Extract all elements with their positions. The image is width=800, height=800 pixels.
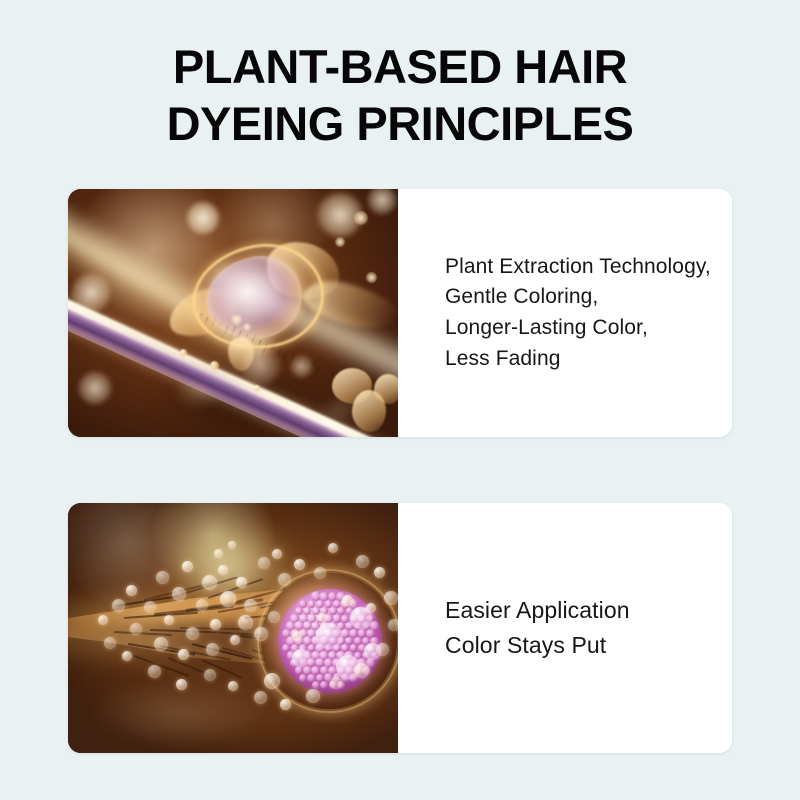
serum-blob-secondary xyxy=(326,364,398,436)
bubble-icon xyxy=(164,615,174,625)
bubble-icon xyxy=(98,615,108,625)
bubble-icon xyxy=(272,549,282,559)
bubble-icon xyxy=(202,575,217,590)
bubble-icon xyxy=(126,585,137,596)
card-1-text: Plant Extraction Technology, Gentle Colo… xyxy=(445,252,711,375)
bubble-icon xyxy=(148,665,161,678)
bubble-icon xyxy=(318,613,327,622)
bubble-icon xyxy=(178,649,189,660)
hair-cross-section-illustration xyxy=(68,503,398,753)
bubble-icon xyxy=(206,643,219,656)
bubble-icon xyxy=(278,573,291,586)
bubble-icon xyxy=(112,599,125,612)
pigment-droplet-icon xyxy=(292,649,310,667)
card-1-body: Plant Extraction Technology, Gentle Colo… xyxy=(398,189,732,437)
bubble-icon xyxy=(354,663,369,678)
feature-card-1: Plant Extraction Technology, Gentle Colo… xyxy=(68,189,732,437)
bubble-icon xyxy=(280,699,291,710)
serum-lobe xyxy=(374,374,398,404)
bubble-icon xyxy=(228,541,236,549)
bubble-icon xyxy=(182,561,193,572)
bubble-icon xyxy=(230,635,240,645)
bubble-icon xyxy=(374,567,385,578)
bubble-icon xyxy=(236,577,247,588)
bubble-icon xyxy=(366,603,376,613)
bubble-icon xyxy=(214,549,223,558)
bubble-icon xyxy=(314,567,326,579)
serum-droplet-icon xyxy=(210,361,219,370)
bubble-icon xyxy=(130,623,142,635)
serum-droplet-icon xyxy=(254,385,260,391)
bubble-icon xyxy=(328,543,338,553)
bubble-icon xyxy=(258,557,270,569)
bubble-icon xyxy=(218,565,228,575)
bubble-icon xyxy=(144,601,156,613)
card-2-body: Easier Application Color Stays Put xyxy=(398,503,732,753)
bubble-icon xyxy=(238,615,253,630)
card-2-text: Easier Application Color Stays Put xyxy=(445,593,630,663)
bubble-icon xyxy=(376,643,389,656)
bubble-icon xyxy=(342,595,353,606)
bubble-icon xyxy=(388,619,398,631)
bubble-icon xyxy=(196,599,208,611)
bubble-icon xyxy=(306,689,320,703)
feature-card-2: Easier Application Color Stays Put xyxy=(68,503,732,753)
serum-droplet-icon xyxy=(180,349,187,356)
bubble-icon xyxy=(172,587,186,601)
serum-blob xyxy=(182,239,332,357)
bubble-icon xyxy=(154,637,168,651)
bubble-icon xyxy=(122,651,132,661)
bubble-icon xyxy=(356,555,369,568)
bubble-icon xyxy=(330,677,342,689)
bubble-icon xyxy=(292,631,302,641)
bubble-icon xyxy=(156,571,169,584)
pigment-droplet-icon xyxy=(316,623,342,649)
bubble-icon xyxy=(210,619,221,630)
bubble-icon xyxy=(220,591,236,607)
bubble-icon xyxy=(244,599,257,612)
page-title: PLANT-BASED HAIR DYEING PRINCIPLES xyxy=(0,38,800,153)
bubble-icon xyxy=(384,591,398,605)
bubble-icon xyxy=(254,627,268,641)
bubble-icon xyxy=(186,627,199,640)
bubble-icon xyxy=(268,611,280,623)
bubble-icon xyxy=(294,559,305,570)
hair-strand-serum-illustration xyxy=(68,189,398,437)
illustration-2-haze xyxy=(88,679,268,749)
bubble-icon xyxy=(104,637,116,649)
